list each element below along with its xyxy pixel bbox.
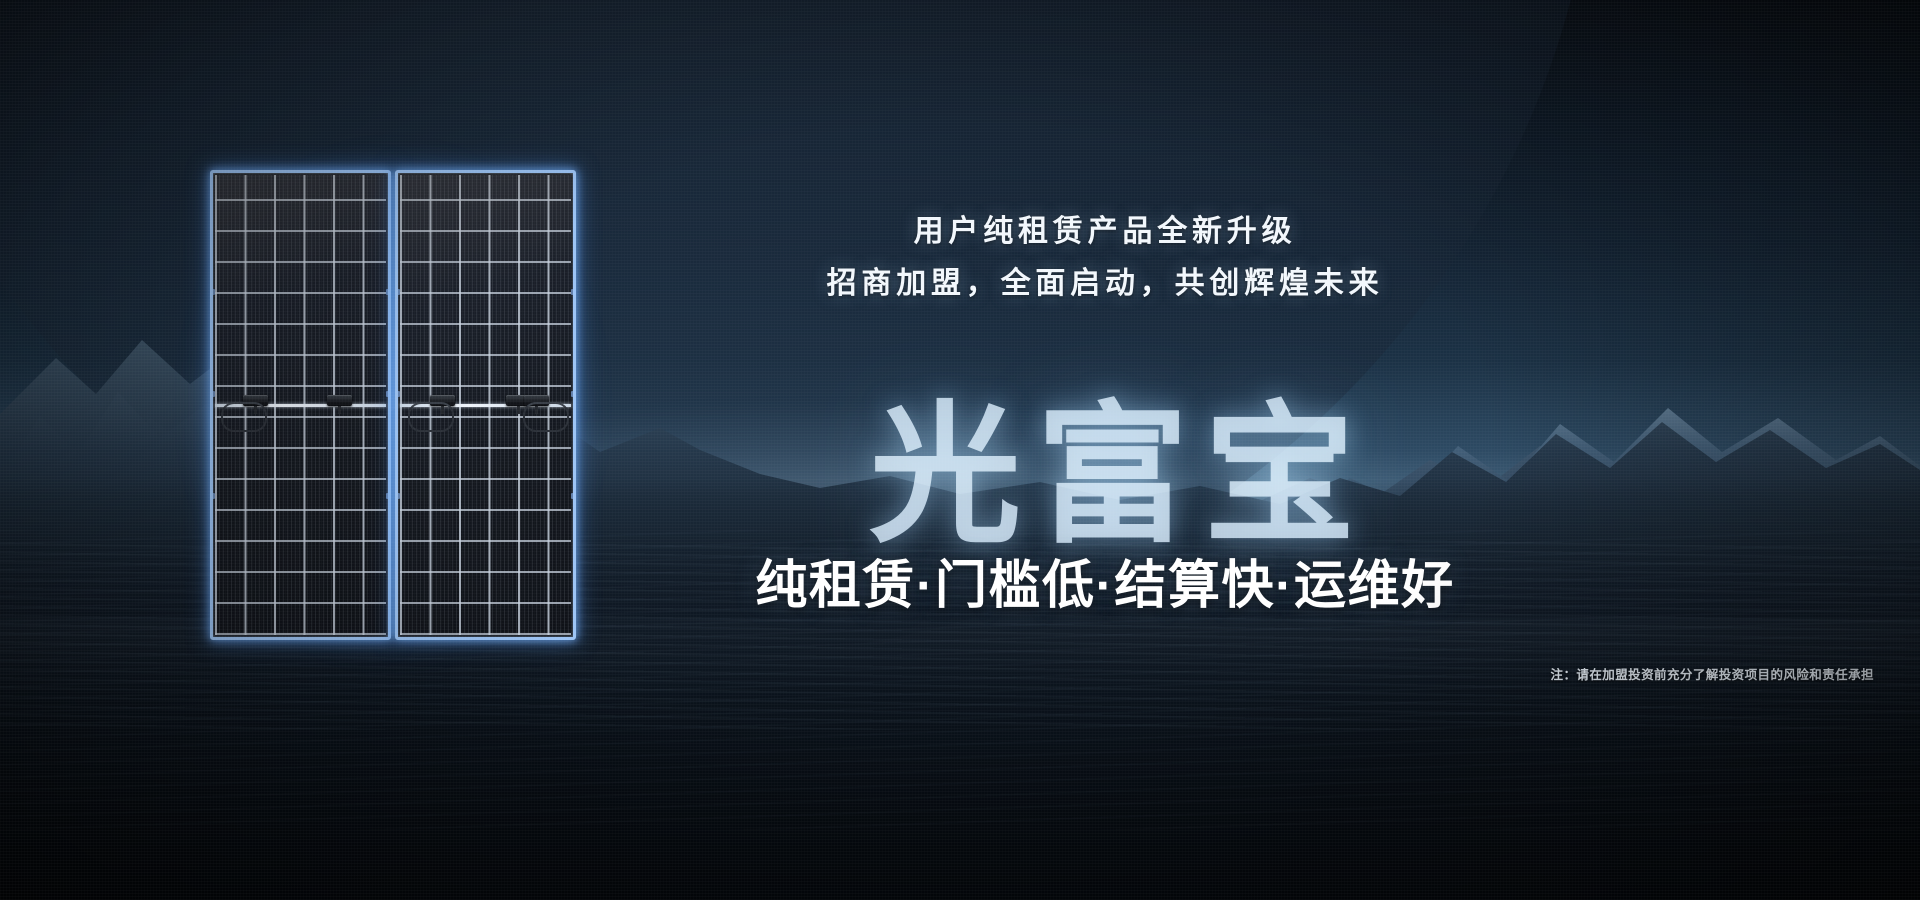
headline-secondary: 招商加盟，全面启动，共创辉煌未来 [0,258,1920,302]
headline-primary-text: 用户纯租赁产品全新升级 [914,206,1297,250]
headline-secondary-text: 招商加盟，全面启动，共创辉煌未来 [827,258,1384,302]
brand-title-text: 光富宝 [869,352,1371,572]
headline-primary: 用户纯租赁产品全新升级 [0,206,1920,250]
brand-title: 光富宝 [0,352,1920,572]
tagline: 纯租赁·门槛低·结算快·运维好 [0,543,1920,618]
solar-leasing-promo-banner: 用户纯租赁产品全新升级 招商加盟，全面启动，共创辉煌未来 光富宝 纯租赁·门槛低… [0,0,1920,900]
tagline-text: 纯租赁·门槛低·结算快·运维好 [755,543,1454,618]
disclaimer-note: 注：请在加盟投资前充分了解投资项目的风险和责任承担 [1551,664,1874,683]
